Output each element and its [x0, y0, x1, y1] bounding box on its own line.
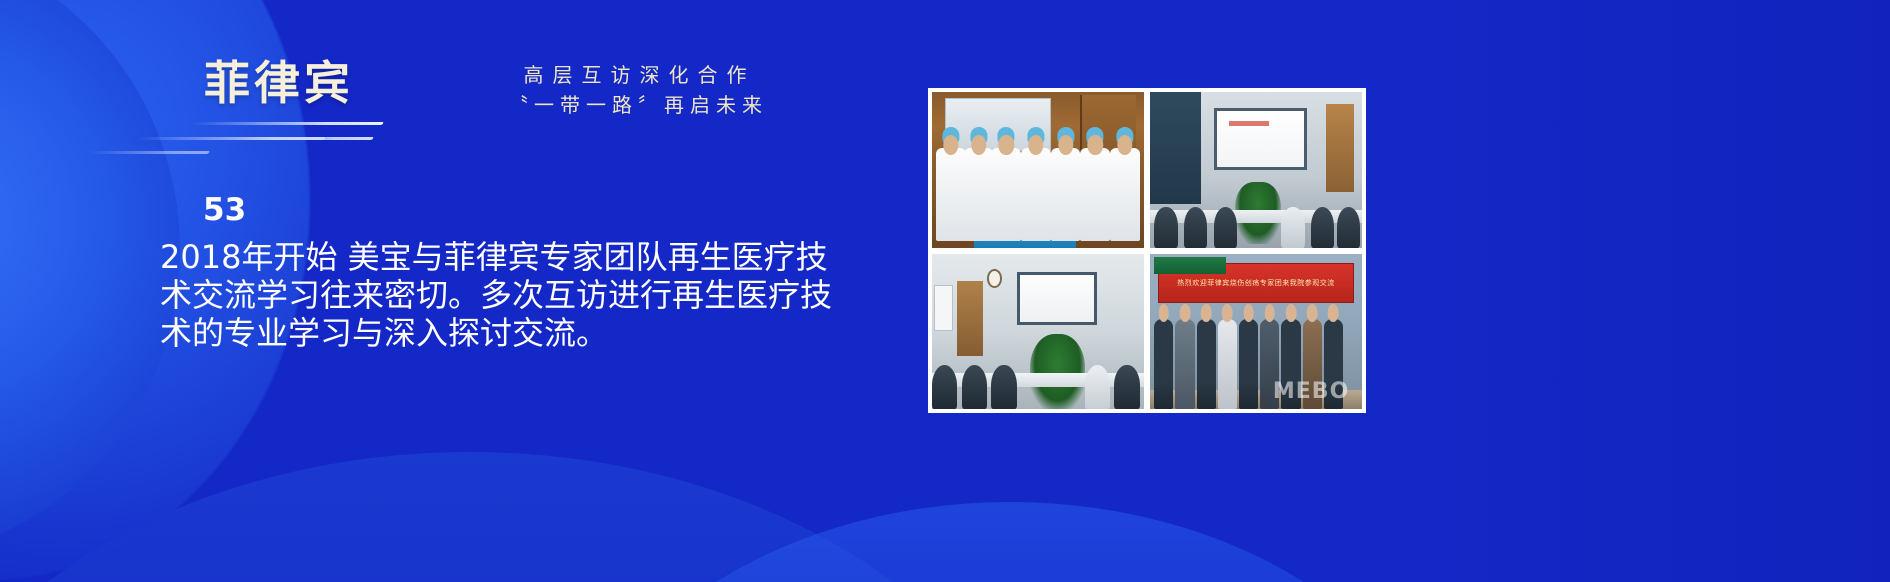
- photo-grid: 热烈欢迎菲律宾烧伤创疡专家团来我院参观交流 MEBO: [928, 88, 1366, 413]
- mebo-watermark: MEBO: [1273, 379, 1349, 404]
- photo-group-banner: 热烈欢迎菲律宾烧伤创疡专家团来我院参观交流 MEBO: [1150, 254, 1362, 410]
- welcome-banner-text: 热烈欢迎菲律宾烧伤创疡专家团来我院参观交流: [1177, 278, 1335, 288]
- photo-conference-projector: [1150, 92, 1362, 248]
- photo-surgical-training: [932, 92, 1144, 248]
- subtitle-line-2: 〝一带一路〞再启未来: [450, 90, 820, 120]
- photo-meeting-room: [932, 254, 1144, 410]
- body-paragraph: 2018年开始 美宝与菲律宾专家团队再生医疗技术交流学习往来密切。多次互访进行再…: [160, 238, 850, 352]
- item-number: 53: [203, 192, 246, 228]
- background-edge-right: [1430, 0, 1890, 582]
- slide-canvas: 菲律宾 高层互访深化合作 〝一带一路〞再启未来 53 2018年开始 美宝与菲律…: [0, 0, 1890, 582]
- country-title: 菲律宾: [204, 47, 354, 113]
- decorative-diagonal-lines: [45, 118, 385, 154]
- subtitle-block: 高层互访深化合作 〝一带一路〞再启未来: [450, 60, 820, 120]
- subtitle-line-1: 高层互访深化合作: [450, 60, 820, 90]
